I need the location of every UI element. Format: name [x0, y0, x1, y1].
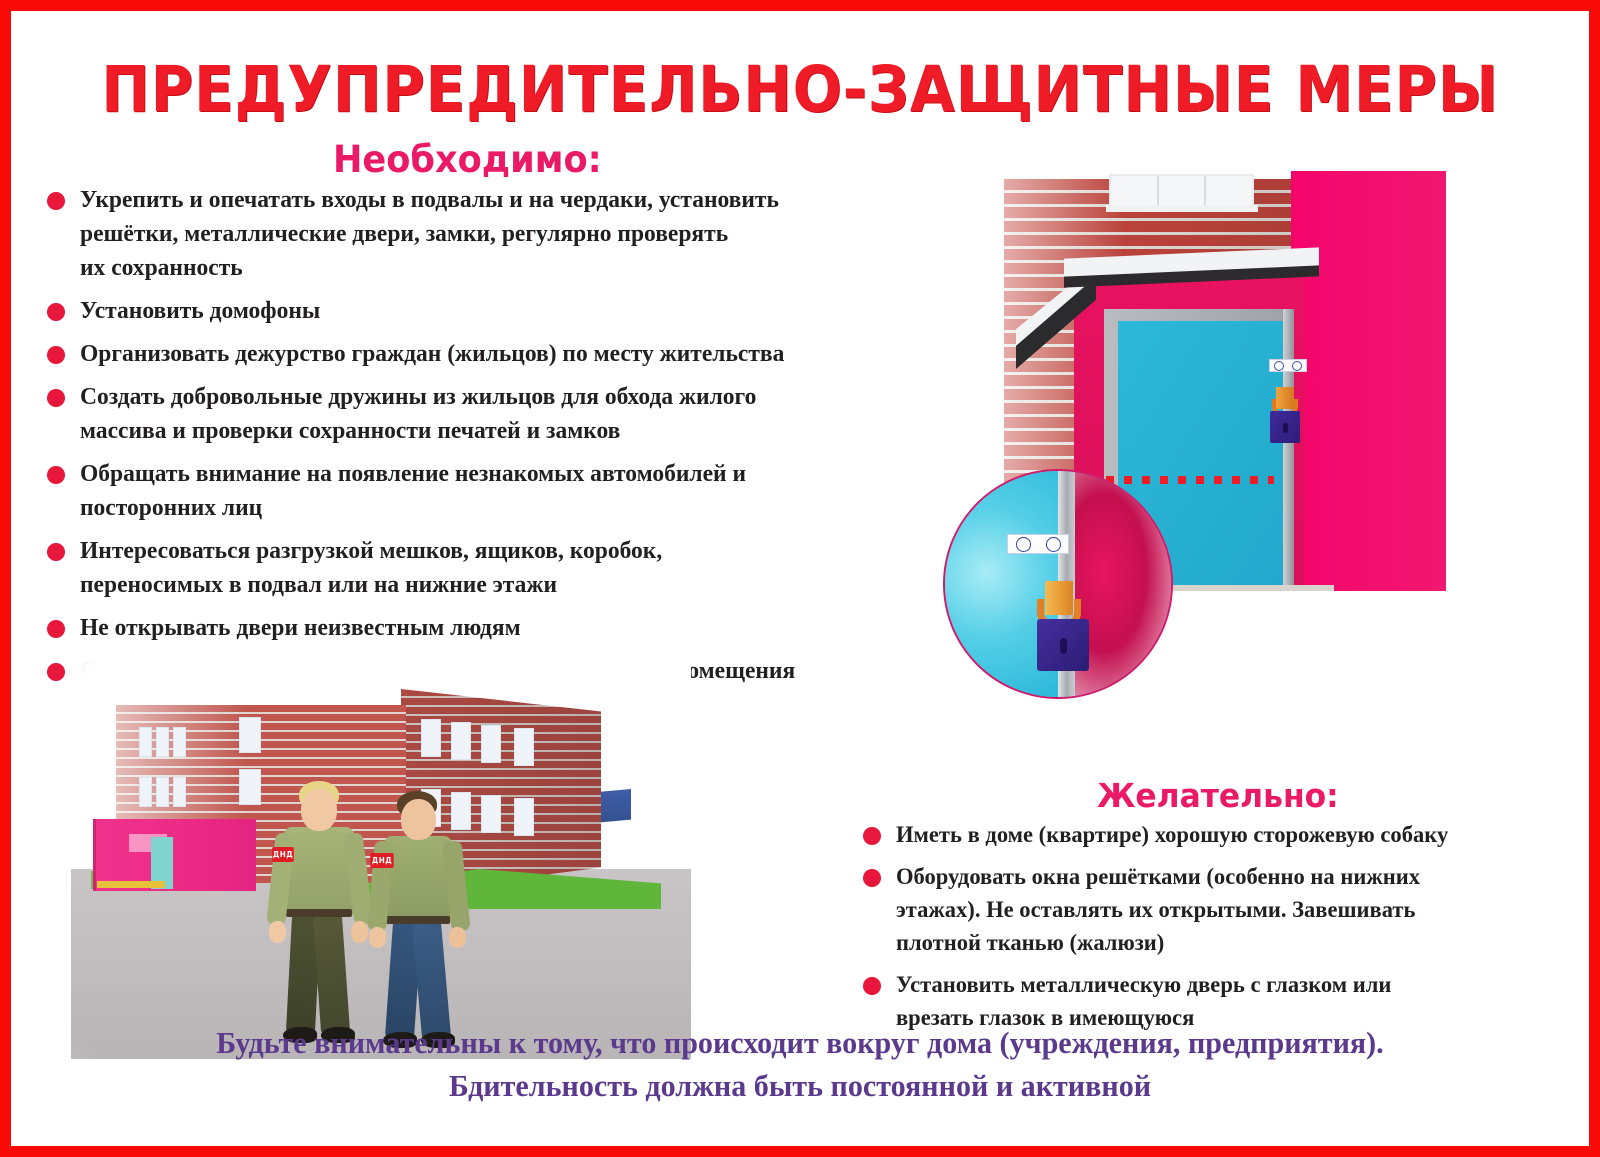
bullet-dot-icon: [47, 389, 65, 407]
list-item: Установить домофоны: [47, 294, 892, 328]
list-item-label: Не открывать двери неизвестным людям: [80, 611, 521, 645]
building-window: [239, 769, 261, 805]
hand: [269, 921, 286, 943]
head: [401, 799, 436, 840]
armband-badge: ДНД: [370, 853, 393, 868]
list-item: Укрепить и опечатать входы в подвалы и н…: [47, 183, 892, 285]
building-window: [173, 727, 186, 757]
padlock-icon: [1270, 411, 1300, 443]
patrol-image-fade: ДНД ДНД: [71, 659, 691, 1059]
head: [301, 789, 337, 831]
building-window: [156, 777, 169, 807]
far-crimson-wall: [1291, 171, 1446, 591]
magnifier-callout: [943, 469, 1173, 699]
list-item-label: Укрепить и опечатать входы в подвалы и н…: [80, 183, 779, 285]
list-item: Иметь в доме (квартире) хорошую сторожев…: [863, 819, 1563, 852]
list-item-label: Создать добровольные дружины из жильцов …: [80, 380, 756, 448]
required-list: Укрепить и опечатать входы в подвалы и н…: [47, 183, 892, 731]
building-window: [481, 795, 501, 833]
page-title: ПРЕДУПРЕДИТЕЛЬНО-ЗАЩИТНЫЕ МЕРЫ: [74, 53, 1526, 126]
building-window: [239, 717, 261, 753]
belt: [386, 916, 450, 924]
bullet-dot-icon: [47, 466, 65, 484]
paper-seal-icon: [1269, 359, 1307, 372]
list-item: Интересоваться разгрузкой мешков, ящиков…: [47, 534, 892, 602]
list-item-label: Интересоваться разгрузкой мешков, ящиков…: [80, 534, 662, 602]
hasp-block-icon: [1276, 387, 1294, 409]
building-window: [481, 725, 501, 763]
list-item: Создать добровольные дружины из жильцов …: [47, 380, 892, 448]
list-item: Оборудовать окна решётками (особенно на …: [863, 861, 1563, 960]
list-item-label: Организовать дежурство граждан (жильцов)…: [80, 337, 784, 371]
upper-window: [1109, 174, 1254, 208]
bullet-dot-icon: [863, 977, 881, 995]
door-jamb: [1283, 309, 1294, 591]
magnified-paper-seal-icon: [1007, 534, 1069, 554]
footer-line-2: Бдительность должна быть постоянной и ак…: [35, 1064, 1566, 1107]
list-item-label: Установить домофоны: [80, 294, 320, 328]
bullet-dot-icon: [47, 543, 65, 561]
patrol-illustration: ДНД ДНД: [71, 659, 691, 1059]
footer-slogan: Будьте внимательны к тому, что происходи…: [35, 1021, 1566, 1107]
building-window: [156, 727, 169, 757]
required-heading: Необходимо:: [333, 138, 602, 181]
building-window: [451, 722, 471, 760]
bullet-dot-icon: [863, 827, 881, 845]
list-item: Не открывать двери неизвестным людям: [47, 611, 892, 645]
building-window: [421, 719, 441, 757]
leg: [313, 914, 350, 1034]
list-item: Обращать внимание на появление незнакомы…: [47, 457, 892, 525]
building-window: [139, 777, 152, 807]
list-item-label: Оборудовать окна решётками (особенно на …: [896, 861, 1420, 960]
poster-frame: ПРЕДУПРЕДИТЕЛЬНО-ЗАЩИТНЫЕ МЕРЫ Необходим…: [0, 0, 1600, 1157]
desirable-heading: Желательно:: [1097, 776, 1339, 815]
magnified-hasp-block-icon: [1045, 581, 1073, 615]
hand: [449, 927, 466, 948]
bullet-dot-icon: [47, 620, 65, 638]
magnified-padlock-icon: [1037, 619, 1089, 671]
bullet-dot-icon: [47, 663, 65, 681]
footer-line-1: Будьте внимательны к тому, что происходи…: [35, 1021, 1566, 1064]
list-item: Организовать дежурство граждан (жильцов)…: [47, 337, 892, 371]
belt: [286, 909, 352, 917]
magnified-wall: [1075, 471, 1171, 697]
building-window: [514, 728, 534, 766]
torso-shirt: [384, 836, 452, 922]
building-window: [173, 777, 186, 807]
building-window: [139, 727, 152, 757]
bullet-dot-icon: [47, 346, 65, 364]
hand: [369, 927, 386, 948]
list-item-label: Обращать внимание на появление незнакомы…: [80, 457, 746, 525]
entrance-step: [97, 881, 165, 888]
window-ledge: [1106, 205, 1258, 212]
bullet-dot-icon: [863, 869, 881, 887]
bullet-dot-icon: [47, 192, 65, 210]
building-window: [514, 798, 534, 836]
patrol-person-brunet: ДНД: [359, 791, 479, 1059]
poster-sheet: ПРЕДУПРЕДИТЕЛЬНО-ЗАЩИТНЫЕ МЕРЫ Необходим…: [11, 11, 1589, 1146]
bullet-dot-icon: [47, 303, 65, 321]
list-item-label: Иметь в доме (квартире) хорошую сторожев…: [896, 819, 1448, 852]
armband-badge: ДНД: [272, 847, 294, 862]
desirable-list: Иметь в доме (квартире) хорошую сторожев…: [863, 819, 1563, 1044]
